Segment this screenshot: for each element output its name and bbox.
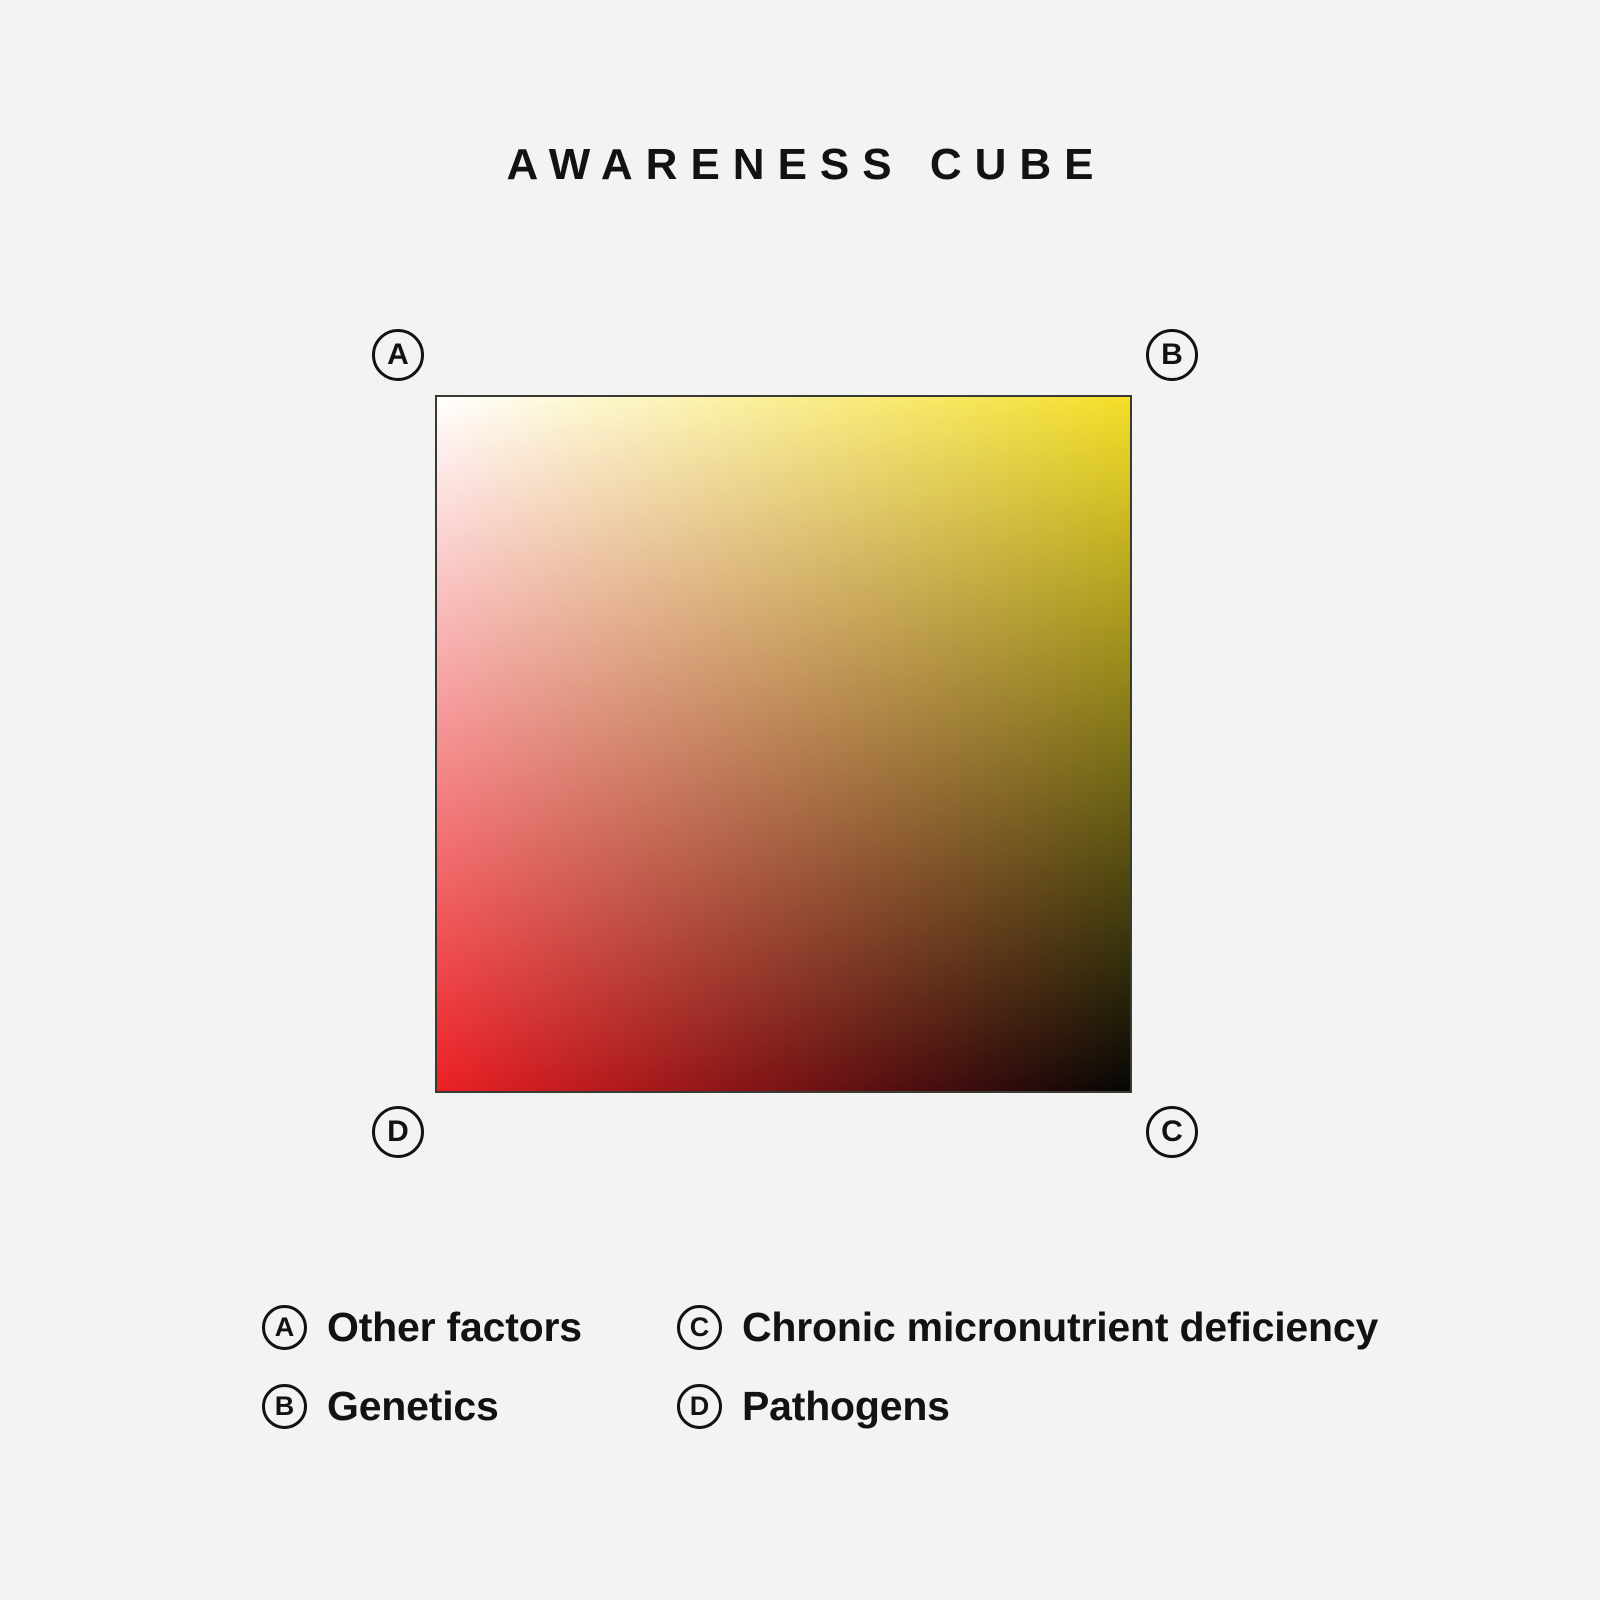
corner-marker-a: A [372, 329, 424, 381]
legend-item-d: D Pathogens [677, 1367, 1378, 1446]
legend-item-c: C Chronic micronutrient deficiency [677, 1288, 1378, 1367]
legend-badge-b: B [262, 1384, 307, 1429]
page-title: AWARENESS CUBE [0, 140, 1600, 190]
legend-item-b: B Genetics [262, 1367, 677, 1446]
corner-marker-d: D [372, 1106, 424, 1158]
legend-label-b: Genetics [327, 1383, 499, 1430]
legend-label-c: Chronic micronutrient deficiency [742, 1304, 1378, 1351]
awareness-cube [435, 395, 1132, 1093]
legend-badge-c: C [677, 1305, 722, 1350]
corner-marker-c: C [1146, 1106, 1198, 1158]
legend-badge-a: A [262, 1305, 307, 1350]
gradient-square [435, 395, 1132, 1093]
gradient-layer-bottom [437, 397, 1130, 1091]
legend-item-a: A Other factors [262, 1288, 677, 1367]
legend-label-d: Pathogens [742, 1383, 950, 1430]
legend-label-a: Other factors [327, 1304, 582, 1351]
legend-badge-d: D [677, 1384, 722, 1429]
legend: A Other factors C Chronic micronutrient … [262, 1288, 1362, 1446]
corner-marker-b: B [1146, 329, 1198, 381]
